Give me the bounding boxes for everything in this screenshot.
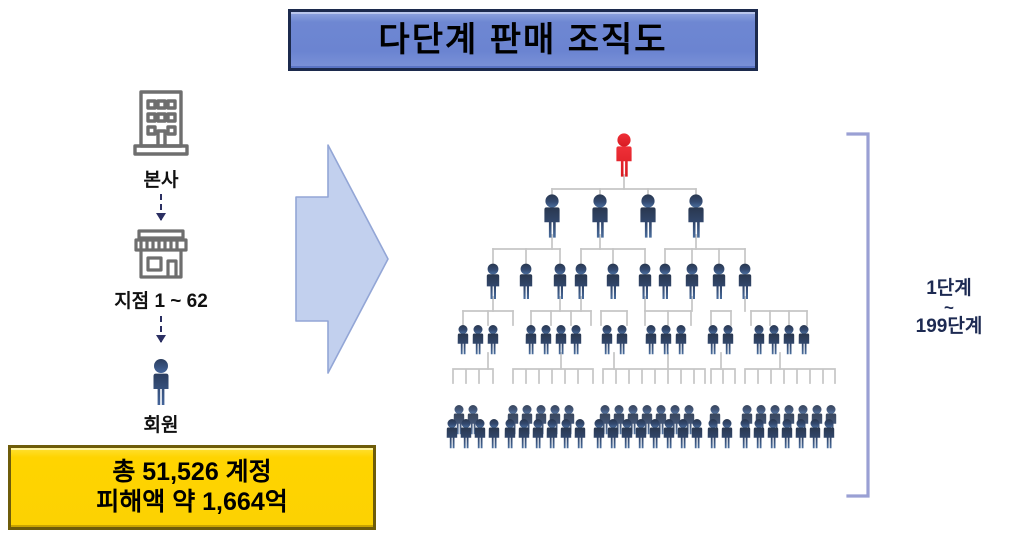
org-pyramid-chart xyxy=(415,125,845,510)
pyramid-level-1-apex xyxy=(616,133,631,176)
member-label: 회원 xyxy=(116,410,206,437)
summary-callout-box: 총 51,526 계정 피해액 약 1,664억 xyxy=(8,445,376,530)
person-icon xyxy=(146,358,176,406)
summary-total-accounts: 총 51,526 계정 xyxy=(112,458,271,488)
level-range-label: 1단계 ~ 199단계 xyxy=(884,278,1014,338)
pyramid-level-5-front-tier xyxy=(447,419,835,448)
pyramid-level-4 xyxy=(458,325,810,354)
flow-arrow-branch-to-member xyxy=(160,316,162,342)
page-title-banner: 다단계 판매 조직도 xyxy=(288,9,758,71)
branch-label: 지점 1 ~ 62 xyxy=(96,286,226,313)
infographic-canvas: 다단계 판매 조직도 본사 xyxy=(0,0,1024,538)
summary-total-damage: 피해액 약 1,664억 xyxy=(96,488,287,518)
flow-arrow-hq-to-branch xyxy=(160,194,162,220)
level-range-tilde: ~ xyxy=(884,298,1014,317)
level-range-bottom: 199단계 xyxy=(884,316,1014,337)
right-chevron-arrow-icon xyxy=(292,143,394,375)
pyramid-level-2 xyxy=(544,194,703,237)
page-title: 다단계 판매 조직도 xyxy=(378,23,667,57)
hq-label: 본사 xyxy=(106,165,216,192)
level-range-bracket xyxy=(846,132,876,498)
level-range-top: 1단계 xyxy=(884,278,1014,299)
office-building-icon xyxy=(125,82,197,160)
storefront-icon xyxy=(130,226,192,282)
pyramid-level-3 xyxy=(487,264,751,299)
